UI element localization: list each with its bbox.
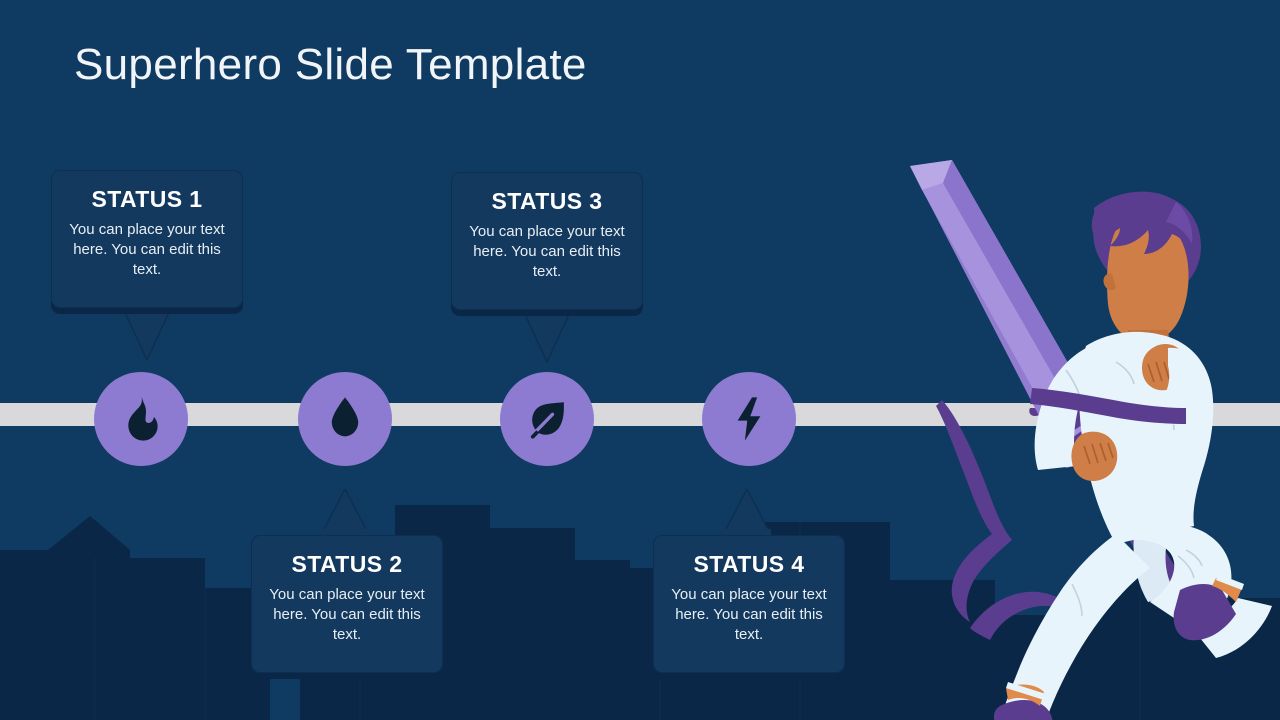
callout-text: You can place your text here. You can ed… xyxy=(265,585,430,644)
callout-body: STATUS 2 You can place your text here. Y… xyxy=(251,535,443,673)
lightning-icon xyxy=(723,393,775,445)
callout-title: STATUS 3 xyxy=(492,190,603,213)
callout-tail-down-1 xyxy=(51,308,243,364)
callout-body: STATUS 4 You can place your text here. Y… xyxy=(653,535,845,673)
timeline-node-1[interactable] xyxy=(94,372,188,466)
callout-tail-up-4 xyxy=(653,489,845,537)
callout-title: STATUS 1 xyxy=(92,188,203,211)
superhero-illustration xyxy=(880,150,1280,720)
timeline-node-4[interactable] xyxy=(702,372,796,466)
page-title: Superhero Slide Template xyxy=(74,40,587,90)
droplet-icon xyxy=(319,393,371,445)
timeline-node-2[interactable] xyxy=(298,372,392,466)
callout-text: You can place your text here. You can ed… xyxy=(667,585,832,644)
callout-title: STATUS 4 xyxy=(694,553,805,576)
callout-body: STATUS 1 You can place your text here. Y… xyxy=(51,170,243,308)
flame-icon xyxy=(115,393,167,445)
hand-upper xyxy=(1071,432,1117,481)
callout-text: You can place your text here. You can ed… xyxy=(65,220,230,279)
callout-title: STATUS 2 xyxy=(292,553,403,576)
callout-body: STATUS 3 You can place your text here. Y… xyxy=(451,172,643,310)
timeline-node-3[interactable] xyxy=(500,372,594,466)
callout-text: You can place your text here. You can ed… xyxy=(465,222,630,281)
callout-tail-up-2 xyxy=(251,489,443,537)
slide-canvas: Superhero Slide Template STATUS 1 xyxy=(0,0,1280,720)
leaf-icon xyxy=(521,393,573,445)
callout-tail-down-3 xyxy=(451,310,643,366)
